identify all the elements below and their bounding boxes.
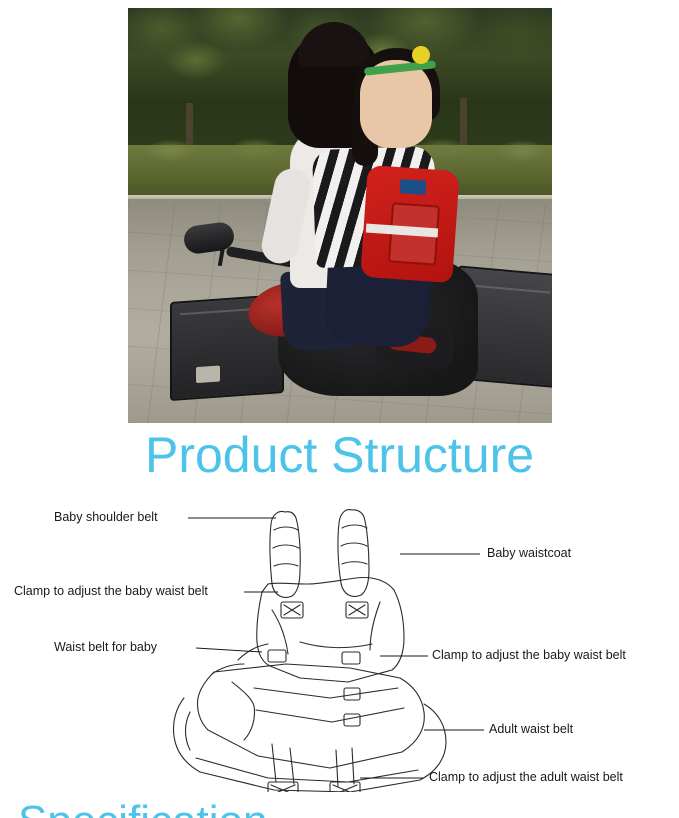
photo-canvas xyxy=(128,8,552,423)
specification-heading: Specification xyxy=(18,800,267,818)
photo-child-hair-flower xyxy=(412,46,430,64)
label-adult-waist-belt: Adult waist belt xyxy=(489,722,573,736)
label-baby-shoulder-belt: Baby shoulder belt xyxy=(54,510,158,524)
label-waist-belt-for-baby: Waist belt for baby xyxy=(54,640,157,654)
product-photo xyxy=(128,8,552,423)
product-structure-diagram: Baby shoulder belt Clamp to adjust the b… xyxy=(0,492,679,792)
label-clamp-adjust-adult-waist-belt: Clamp to adjust the adult waist belt xyxy=(429,770,623,784)
page-title: Product Structure xyxy=(0,430,679,480)
label-clamp-adjust-baby-waist-belt-left: Clamp to adjust the baby waist belt xyxy=(14,584,208,598)
label-baby-waistcoat: Baby waistcoat xyxy=(487,546,571,560)
photo-vest-tag xyxy=(400,179,427,195)
label-clamp-adjust-baby-waist-belt-right: Clamp to adjust the baby waist belt xyxy=(432,648,626,662)
